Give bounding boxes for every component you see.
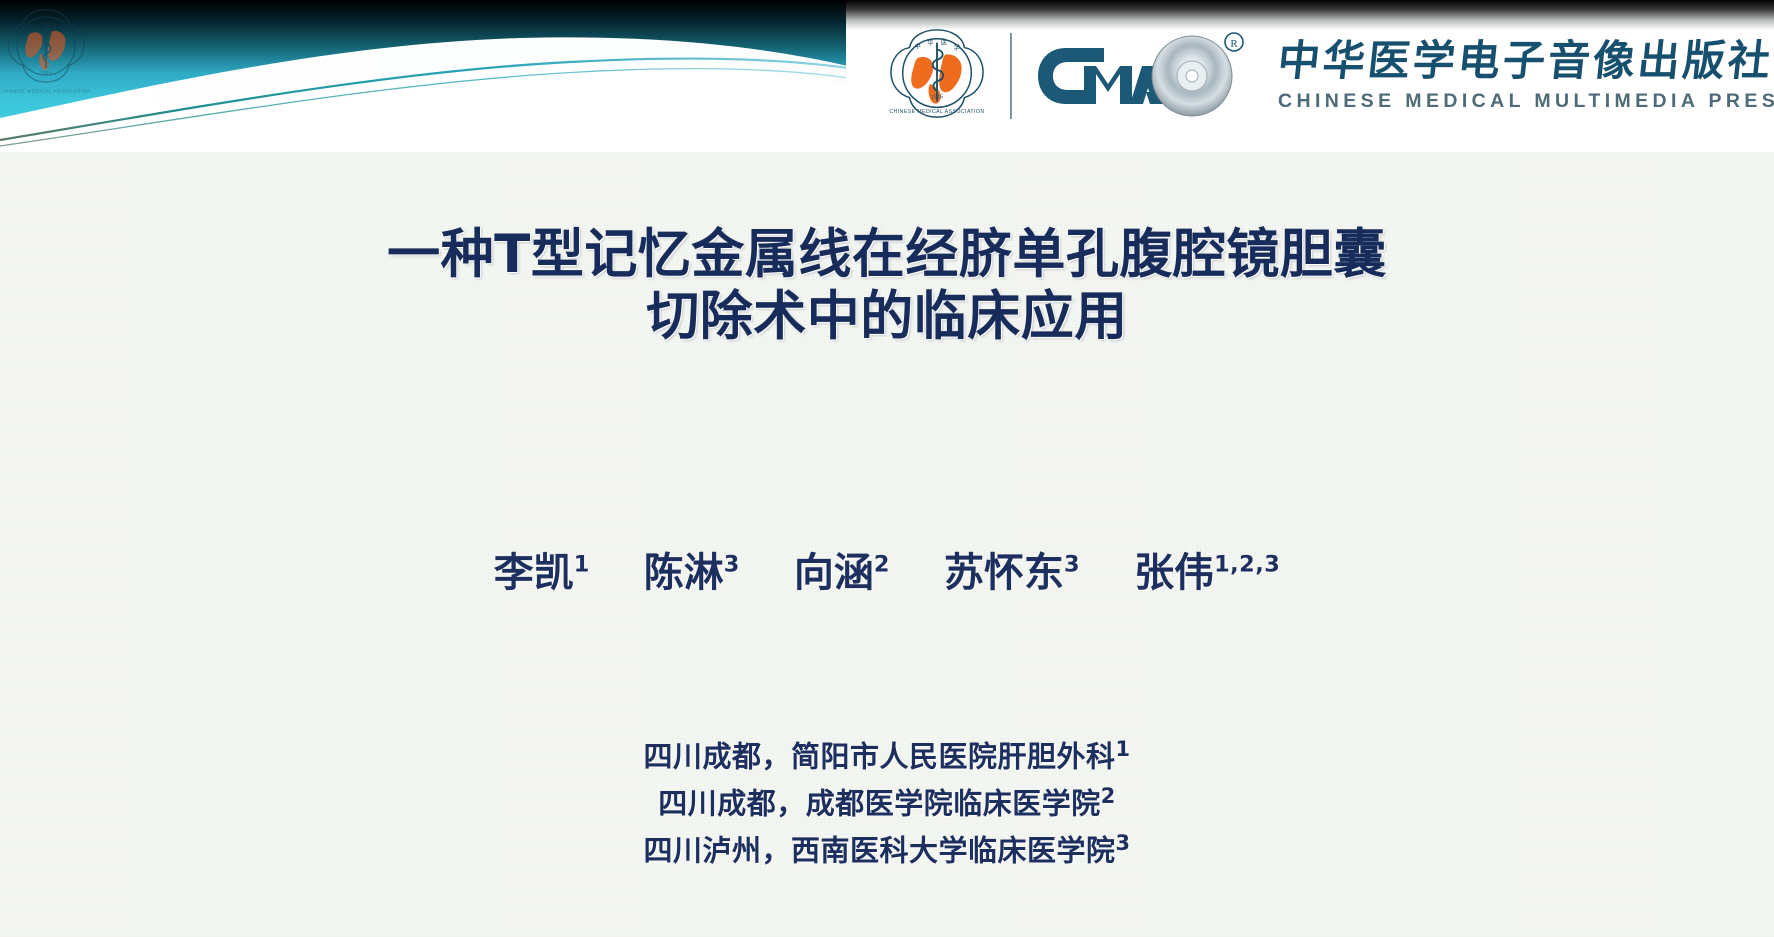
affiliation-text: 四川成都，成都医学院临床医学院: [658, 787, 1101, 821]
affiliation-text: 四川泸州，西南医科大学临床医学院: [643, 834, 1115, 868]
page-title: 一种T型记忆金属线在经脐单孔腹腔镜胆囊 切除术中的临床应用: [0, 224, 1774, 348]
svg-text:R: R: [1230, 38, 1238, 50]
cmaa-disc-wordmark-icon: R: [1034, 28, 1254, 124]
affiliation-item: 四川成都，成都医学院临床医学院2: [0, 780, 1774, 827]
author-name: 向涵: [794, 550, 874, 596]
vertical-divider-icon: [1010, 33, 1012, 119]
author-item: 李凯1: [494, 540, 590, 598]
press-name-chinese: 中华医学电子音像出版社: [1276, 39, 1774, 83]
author-name: 张伟: [1134, 550, 1214, 596]
author-item: 张伟1,2,3: [1134, 540, 1280, 598]
author-affiliation-marks: 1,2,3: [1214, 552, 1280, 578]
title-line-2: 切除术中的临床应用: [0, 286, 1774, 348]
publisher-logo-row: 中 华 医 学 1915 CHINESE MEDICAL ASSOCIATION: [846, 16, 1774, 136]
author-list: 李凯1 陈淋3 向涵2 苏怀东3 张伟1,2,3: [0, 540, 1774, 598]
svg-text:华: 华: [927, 38, 933, 47]
presentation-title-slide: 1915 CHINESE MEDICAL ASSOCIATION: [0, 0, 1774, 937]
affiliation-mark: 2: [1101, 784, 1116, 808]
author-item: 苏怀东3: [944, 540, 1080, 598]
svg-text:中: 中: [914, 42, 920, 51]
author-affiliation-marks: 1: [574, 552, 590, 578]
title-line-1: 一种T型记忆金属线在经脐单孔腹腔镜胆囊: [0, 224, 1774, 286]
author-name: 李凯: [494, 550, 574, 596]
affiliation-mark: 1: [1115, 737, 1130, 761]
publisher-logo-panel: 中 华 医 学 1915 CHINESE MEDICAL ASSOCIATION: [846, 0, 1774, 152]
author-item: 陈淋3: [644, 540, 740, 598]
author-affiliation-marks: 3: [1064, 552, 1080, 578]
svg-text:学: 学: [954, 43, 960, 52]
author-item: 向涵2: [794, 540, 890, 598]
svg-text:CHINESE MEDICAL ASSOCIATION: CHINESE MEDICAL ASSOCIATION: [889, 109, 984, 115]
affiliation-mark: 3: [1115, 831, 1130, 855]
decorative-top-banner: 1915 CHINESE MEDICAL ASSOCIATION: [0, 0, 848, 152]
svg-text:1915: 1915: [931, 95, 943, 101]
press-name-english: CHINESE MEDICAL MULTIMEDIA PRESS: [1278, 90, 1774, 113]
affiliation-item: 四川泸州，西南医科大学临床医学院3: [0, 827, 1774, 874]
chinese-medical-association-emblem-icon: 中 华 医 学 1915 CHINESE MEDICAL ASSOCIATION: [888, 27, 986, 125]
affiliation-list: 四川成都，简阳市人民医院肝胆外科1 四川成都，成都医学院临床医学院2 四川泸州，…: [0, 733, 1774, 874]
banner-wave-graphic: [0, 0, 848, 152]
author-name: 苏怀东: [944, 550, 1064, 596]
author-name: 陈淋: [644, 550, 724, 596]
press-name-group: 中华医学电子音像出版社 CHINESE MEDICAL MULTIMEDIA P…: [1278, 39, 1774, 112]
affiliation-item: 四川成都，简阳市人民医院肝胆外科1: [0, 733, 1774, 780]
author-affiliation-marks: 2: [874, 552, 890, 578]
author-affiliation-marks: 3: [724, 552, 740, 578]
svg-text:医: 医: [941, 39, 947, 47]
affiliation-text: 四川成都，简阳市人民医院肝胆外科: [643, 740, 1115, 774]
